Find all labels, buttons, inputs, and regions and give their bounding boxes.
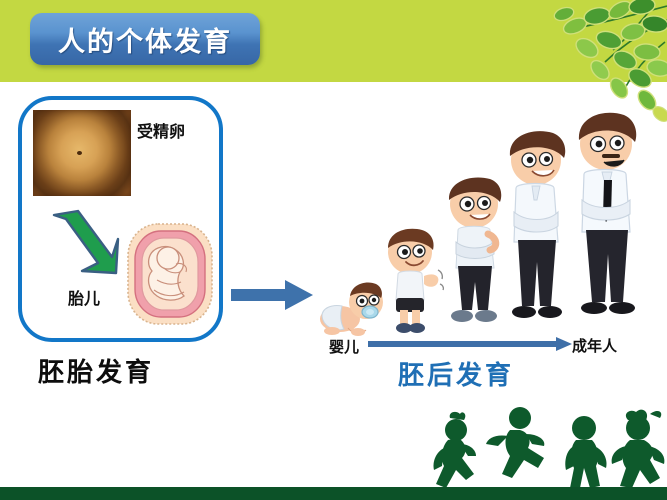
stage-connector-arrow	[231, 277, 315, 313]
arrow-right-icon	[231, 277, 315, 313]
fetus-illustration	[124, 218, 216, 328]
slide-canvas: 人的个体发育 受精卵 胎儿 胚胎发育	[0, 0, 667, 500]
green-development-arrow	[48, 205, 122, 279]
figure-adult	[566, 112, 646, 336]
fetus-label: 胎儿	[68, 285, 100, 309]
figure-youth	[498, 130, 574, 336]
postembryonic-development-caption: 胚后发育	[398, 355, 514, 392]
children-silhouettes-icon	[392, 404, 667, 490]
growth-stage-figures	[318, 104, 658, 336]
figure-toddler	[380, 226, 446, 336]
stage-progress-arrow	[368, 336, 573, 350]
arrow-down-right-icon	[48, 205, 122, 279]
stage-start-label: 婴儿	[329, 336, 359, 357]
arrow-right-thin-icon	[368, 337, 573, 351]
page-title: 人的个体发育	[58, 20, 232, 59]
fertilized-egg-image	[33, 110, 131, 196]
adult-man-icon	[566, 112, 646, 336]
youth-icon	[498, 130, 574, 336]
footer-green-band	[0, 487, 667, 500]
slide-title-plaque: 人的个体发育	[30, 13, 260, 65]
fetus-in-uterus-icon	[124, 218, 216, 328]
stage-end-label: 成年人	[572, 335, 617, 356]
embryonic-development-caption: 胚胎发育	[38, 352, 154, 389]
toddler-icon	[380, 226, 446, 336]
children-silhouettes-decoration	[392, 404, 667, 490]
fertilized-egg-label: 受精卵	[137, 118, 185, 142]
